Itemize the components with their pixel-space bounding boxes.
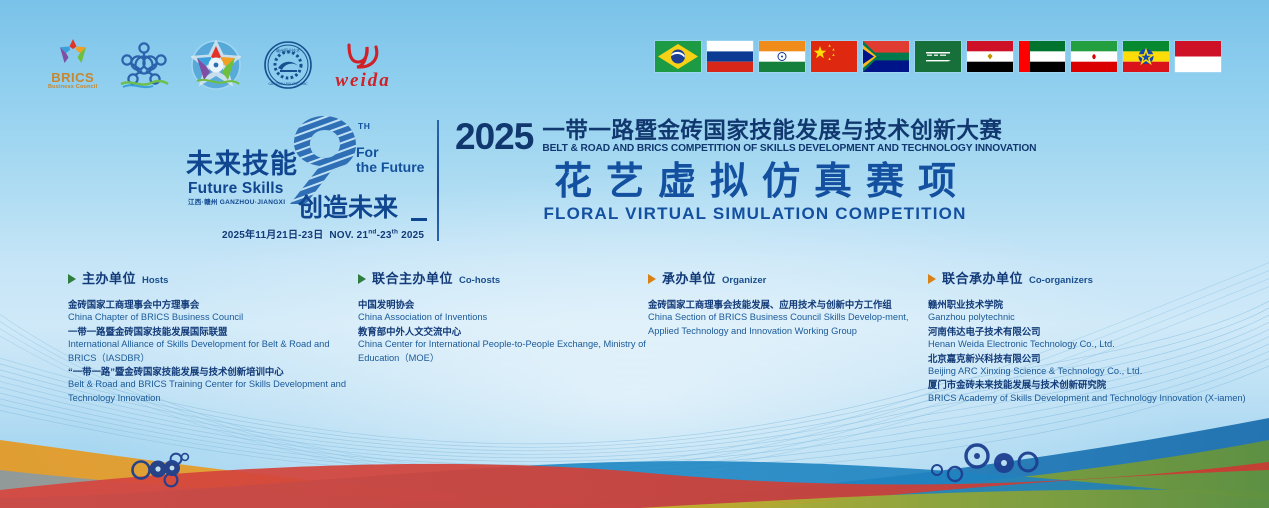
- future-skills-en: Future Skills: [188, 181, 284, 197]
- for-the-future-line2: the Future: [356, 160, 424, 175]
- flag-uae: [1019, 41, 1065, 72]
- flag-indonesia: [1175, 41, 1221, 72]
- org-name-cn: 厦门市金砖未来技能发展与技术创新研究院: [928, 378, 1248, 391]
- triangle-marker-icon: [928, 274, 936, 284]
- column-heading-cn: 主办单位: [82, 268, 136, 287]
- flag-india: [759, 41, 805, 72]
- for-the-future-text: For the Future: [356, 145, 424, 175]
- event-dates-en-prefix: NOV. 21: [329, 230, 368, 241]
- ordinal-suffix: TH: [358, 121, 370, 131]
- event-dates-sup1: nd: [368, 229, 376, 236]
- org-name-cn: 金砖国家工商理事会中方理事会: [68, 298, 358, 311]
- column-heading-en: Co-hosts: [459, 275, 500, 286]
- event-dates-en-mid: -23: [377, 230, 392, 241]
- flag-saudi-arabia: [915, 41, 961, 72]
- brics-logo-sub: Business Council: [48, 85, 97, 91]
- svg-text:赣州职业技术: 赣州职业技术: [276, 47, 300, 53]
- org-name-en: Belt & Road and BRICS Training Center fo…: [68, 378, 358, 405]
- column-heading: 主办单位 Hosts: [68, 268, 358, 287]
- title-divider: [437, 120, 439, 241]
- poster-canvas: BRICS Business Council: [0, 0, 1269, 508]
- ganzhou-polytechnic-seal: 赣州职业技术 GANZHOU POLYTECHNIC: [263, 32, 313, 90]
- flag-egypt: [967, 41, 1013, 72]
- event-dates: 2025年11月21日-23日 NOV. 21nd-23th 2025: [222, 226, 424, 241]
- org-name-en: Henan Weida Electronic Technology Co., L…: [928, 338, 1248, 351]
- competition-title-block: 2025 一带一路暨金砖国家技能发展与技术创新大赛 BELT & ROAD AN…: [455, 118, 1055, 224]
- org-name-cn: 河南伟达电子技术有限公司: [928, 325, 1248, 338]
- flag-brazil: [655, 41, 701, 72]
- triangle-marker-icon: [358, 274, 366, 284]
- org-name-en: China Section of BRICS Business Council …: [648, 311, 928, 338]
- org-entry: 中国发明协会 China Association of Inventions 教…: [358, 298, 648, 365]
- ccie-emblem-icon: [191, 40, 241, 90]
- org-name-cn: 赣州职业技术学院: [928, 298, 1248, 311]
- org-name-en: China Chapter of BRICS Business Council: [68, 311, 358, 324]
- column-heading-en: Hosts: [142, 275, 168, 286]
- org-name-en: BRICS Academy of Skills Development and …: [928, 392, 1248, 405]
- svg-text:GANZHOU POLYTECHNIC: GANZHOU POLYTECHNIC: [269, 82, 309, 86]
- weida-wordmark: weida: [335, 71, 390, 90]
- ganzhou-polytechnic-seal-icon: 赣州职业技术 GANZHOU POLYTECHNIC: [263, 40, 313, 90]
- org-name-en: China Center for International People-to…: [358, 338, 648, 365]
- org-entry: 金砖国家工商理事会中方理事会 China Chapter of BRICS Bu…: [68, 298, 358, 405]
- flag-china: [811, 41, 857, 72]
- year-label: 2025: [455, 118, 533, 156]
- headline-cn: 一带一路暨金砖国家技能发展与技术创新大赛: [542, 119, 1036, 143]
- org-entry: 金砖国家工商理事会技能发展、应用技术与创新中方工作组 China Section…: [648, 298, 928, 338]
- ninth-edition-numeral-icon: [282, 114, 360, 206]
- member-country-flags: [655, 41, 1221, 72]
- column-heading-en: Co-organizers: [1029, 275, 1093, 286]
- weida-mark-icon: [343, 42, 383, 70]
- org-name-en: Ganzhou polytechnic: [928, 311, 1248, 324]
- column-hosts: 主办单位 Hosts 金砖国家工商理事会中方理事会 China Chapter …: [68, 268, 358, 405]
- create-future-underline: [411, 218, 427, 221]
- event-dates-cn: 2025年11月21日-23日: [222, 230, 323, 241]
- column-heading: 联合主办单位 Co-hosts: [358, 268, 648, 287]
- brics-star-icon: [56, 37, 90, 69]
- column-coorganizers: 联合承办单位 Co-organizers 赣州职业技术学院 Ganzhou po…: [928, 268, 1248, 405]
- org-name-cn: 一带一路暨金砖国家技能发展国际联盟: [68, 325, 358, 338]
- headline-en: BELT & ROAD AND BRICS COMPETITION OF SKI…: [542, 143, 1036, 155]
- brics-business-council-logo: BRICS Business Council: [48, 32, 97, 90]
- org-name-en: China Association of Inventions: [358, 311, 648, 324]
- flag-south-africa: [863, 41, 909, 72]
- org-name-en: Beijing ARC Xinxing Science & Technology…: [928, 365, 1248, 378]
- column-heading: 联合承办单位 Co-organizers: [928, 268, 1248, 287]
- column-heading: 承办单位 Organizer: [648, 268, 928, 287]
- org-name-cn: 教育部中外人文交流中心: [358, 325, 648, 338]
- org-name-cn: 金砖国家工商理事会技能发展、应用技术与创新中方工作组: [648, 298, 928, 311]
- org-name-cn: 中国发明协会: [358, 298, 648, 311]
- flag-ethiopia: [1123, 41, 1169, 72]
- partner-logo-bar: BRICS Business Council: [48, 30, 391, 90]
- flag-iran: [1071, 41, 1117, 72]
- org-name-cn: “一带一路”暨金砖国家技能发展与技术创新培训中心: [68, 365, 358, 378]
- iasdbr-emblem-icon: [119, 38, 169, 90]
- organisation-columns: 主办单位 Hosts 金砖国家工商理事会中方理事会 China Chapter …: [68, 268, 1248, 405]
- column-heading-cn: 联合承办单位: [942, 268, 1023, 287]
- flag-russia: [707, 41, 753, 72]
- event-name-en: FLORAL VIRTUAL SIMULATION COMPETITION: [455, 204, 1055, 224]
- triangle-marker-icon: [648, 274, 656, 284]
- org-entry: 赣州职业技术学院 Ganzhou polytechnic 河南伟达电子技术有限公…: [928, 298, 1248, 405]
- for-the-future-line1: For: [356, 145, 424, 160]
- future-skills-place: 江西·赣州 GANZHOU·JIANGXI: [188, 200, 285, 207]
- event-dates-en-suffix: 2025: [398, 230, 424, 241]
- weida-logo: weida: [335, 32, 390, 90]
- create-future-cn: 创造未来: [298, 196, 398, 221]
- column-heading-cn: 联合主办单位: [372, 268, 453, 287]
- org-name-cn: 北京嘉克新兴科技有限公司: [928, 352, 1248, 365]
- column-cohosts: 联合主办单位 Co-hosts 中国发明协会 China Association…: [358, 268, 648, 405]
- org-name-en: International Alliance of Skills Develop…: [68, 338, 358, 365]
- ccie-star-logo: [191, 32, 241, 90]
- brics-logo-word: BRICS: [51, 71, 94, 84]
- column-heading-en: Organizer: [722, 275, 766, 286]
- iasdbr-logo: [119, 32, 169, 90]
- column-heading-cn: 承办单位: [662, 268, 716, 287]
- future-skills-mark: 未来技能 Future Skills 江西·赣州 GANZHOU·JIANGXI: [186, 118, 426, 243]
- event-name-cn: 花艺虚拟仿真赛项: [455, 160, 1055, 204]
- column-organizer: 承办单位 Organizer 金砖国家工商理事会技能发展、应用技术与创新中方工作…: [648, 268, 928, 405]
- triangle-marker-icon: [68, 274, 76, 284]
